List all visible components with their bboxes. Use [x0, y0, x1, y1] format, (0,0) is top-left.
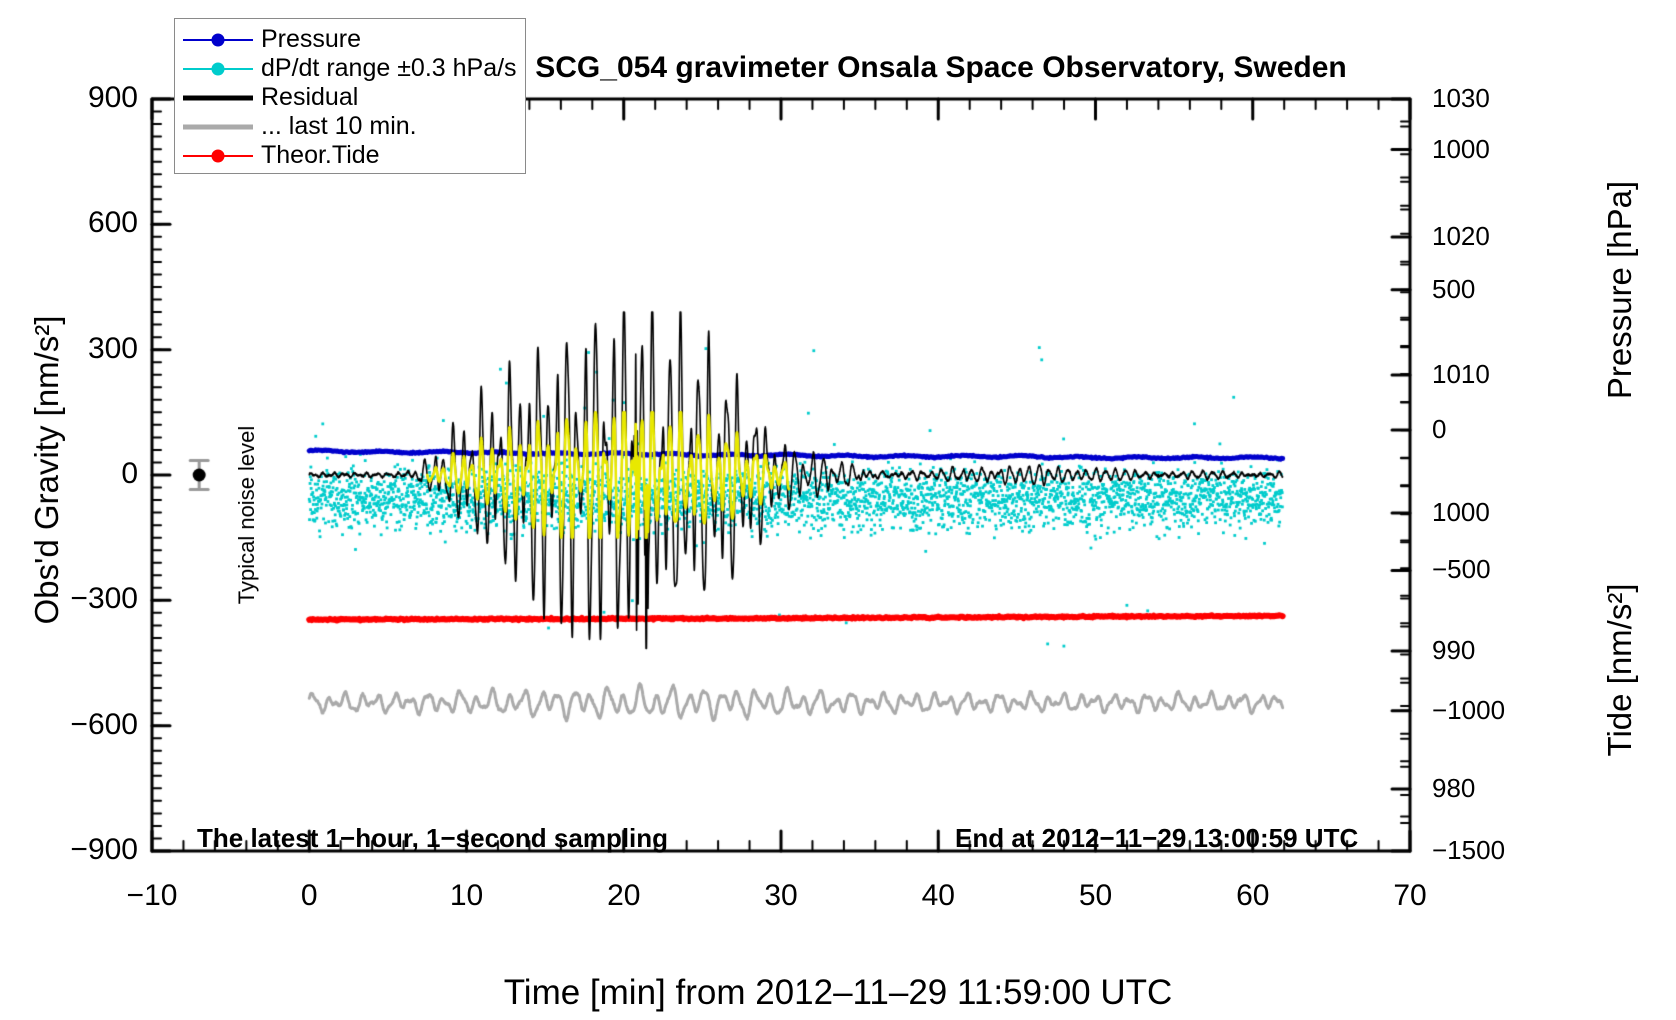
tick-label: 50 — [1036, 879, 1156, 913]
legend-label: dP/dt range ±0.3 hPa/s — [261, 54, 517, 83]
end-time-note: End at 2012−11−29 13:00:59 UTC — [955, 823, 1358, 854]
legend-item[interactable]: Theor.Tide — [175, 141, 525, 170]
tick-label: 500 — [1432, 274, 1562, 305]
tick-label: −500 — [1432, 554, 1562, 585]
y-axis-right-pressure-title: Pressure [hPa] — [1601, 181, 1639, 399]
tick-label: 600 — [18, 206, 138, 240]
legend: PressuredP/dt range ±0.3 hPa/sResidual..… — [174, 18, 526, 174]
tick-label: −300 — [18, 582, 138, 616]
tick-label: 900 — [18, 81, 138, 115]
legend-swatch-icon — [175, 141, 261, 170]
tick-label: 990 — [1432, 635, 1562, 666]
legend-item[interactable]: dP/dt range ±0.3 hPa/s — [175, 54, 525, 83]
legend-swatch-icon — [175, 112, 261, 141]
tick-label: −900 — [18, 833, 138, 867]
legend-swatch-icon — [175, 25, 261, 54]
tick-label: −10 — [92, 879, 212, 913]
tick-label: 300 — [18, 332, 138, 366]
gravimeter-figure: SCG_054 gravimeter Onsala Space Observat… — [0, 0, 1676, 1020]
tick-label: 70 — [1350, 879, 1470, 913]
y-axis-right-tide-title: Tide [nm/s²] — [1601, 584, 1639, 757]
tick-label: 0 — [249, 879, 369, 913]
typical-noise-level-label: Typical noise level — [234, 426, 260, 605]
tick-label: 40 — [878, 879, 998, 913]
tick-label: 0 — [18, 457, 138, 491]
sampling-note: The latest 1−hour, 1−second sampling — [197, 823, 668, 854]
legend-item[interactable]: Pressure — [175, 25, 525, 54]
tick-label: 1030 — [1432, 83, 1562, 114]
tick-label: 0 — [1432, 414, 1562, 445]
tick-label: 1000 — [1432, 497, 1562, 528]
legend-swatch-icon — [175, 83, 261, 112]
tick-label: 1020 — [1432, 221, 1562, 252]
x-axis-title: Time [min] from 2012–11–29 11:59:00 UTC — [504, 973, 1173, 1013]
legend-label: Theor.Tide — [261, 141, 380, 170]
legend-item[interactable]: Residual — [175, 83, 525, 112]
tick-label: −1500 — [1432, 835, 1562, 866]
legend-label: ... last 10 min. — [261, 112, 417, 141]
tick-label: −600 — [18, 708, 138, 742]
legend-item[interactable]: ... last 10 min. — [175, 112, 525, 141]
legend-label: Residual — [261, 83, 358, 112]
tick-label: 980 — [1432, 773, 1562, 804]
tick-label: 1010 — [1432, 359, 1562, 390]
page-title: SCG_054 gravimeter Onsala Space Observat… — [535, 51, 1347, 85]
tick-label: 10 — [407, 879, 527, 913]
tick-label: 30 — [721, 879, 841, 913]
tick-label: 60 — [1193, 879, 1313, 913]
tick-label: −1000 — [1432, 695, 1562, 726]
legend-label: Pressure — [261, 25, 361, 54]
tick-label: 1000 — [1432, 134, 1562, 165]
legend-swatch-icon — [175, 54, 261, 83]
tick-label: 20 — [564, 879, 684, 913]
